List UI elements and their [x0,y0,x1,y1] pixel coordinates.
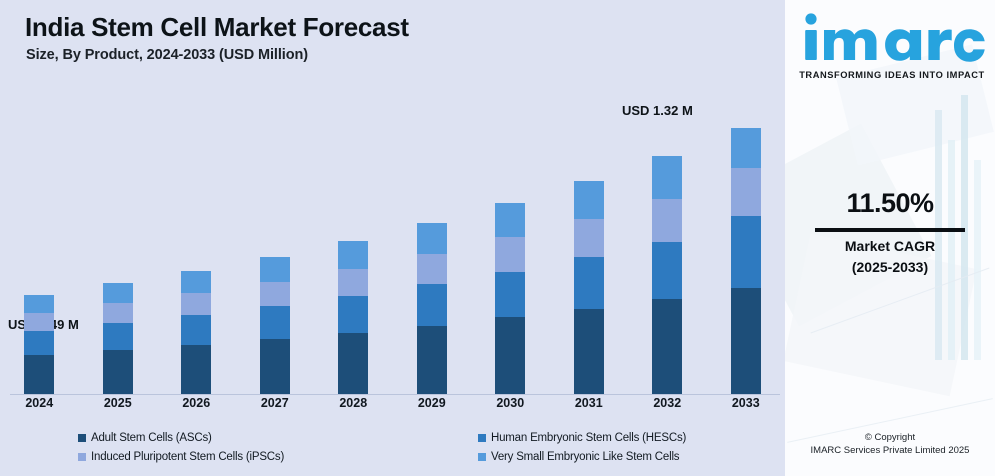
brand-tagline: TRANSFORMING IDEAS INTO IMPACT [799,70,985,80]
bar-segment [103,350,133,394]
x-axis-tick: 2028 [314,396,393,418]
bar-segment [574,219,604,257]
copyright-line-2: IMARC Services Private Limited 2025 [785,445,995,456]
x-axis: 2024202520262027202820292030203120322033 [0,396,785,418]
bar-segment [260,306,290,339]
bar-segment [652,156,682,199]
legend-swatch-icon [478,434,486,442]
x-axis-tick: 2031 [550,396,629,418]
stacked-bar[interactable] [731,128,761,394]
stacked-bar[interactable] [260,257,290,394]
cagr-value: 11.50% [785,188,995,219]
stacked-bar[interactable] [495,203,525,394]
bar-segment [103,323,133,350]
bar-segment [417,284,447,325]
bar-segment [574,309,604,394]
bar-column [0,102,79,394]
bar-segment [731,168,761,216]
brand-panel: TRANSFORMING IDEAS INTO IMPACT 11.50% Ma… [785,0,995,476]
legend-swatch-icon [478,453,486,461]
chart-panel: India Stem Cell Market Forecast Size, By… [0,0,785,476]
bar-segment [181,345,211,394]
bar-segment [652,199,682,242]
legend-label: Human Embryonic Stem Cells (HESCs) [491,432,686,444]
bar-column [236,102,315,394]
bar-segment [417,254,447,285]
stacked-bar[interactable] [24,295,54,394]
legend-swatch-icon [78,453,86,461]
imarc-logo [799,12,989,64]
bar-segment [338,333,368,394]
bar-column [550,102,629,394]
bar-column [707,102,786,394]
bar-segment [24,331,54,355]
x-axis-tick: 2024 [0,396,79,418]
x-axis-tick: 2033 [707,396,786,418]
legend-swatch-icon [78,434,86,442]
bar-segment [731,128,761,168]
bar-segment [24,355,54,394]
bar-segment [181,271,211,293]
cagr-divider [815,228,965,232]
bar-segment [495,237,525,271]
bar-group [0,102,785,394]
bar-column [393,102,472,394]
bar-segment [417,326,447,394]
stacked-bar[interactable] [103,283,133,394]
bar-segment [181,315,211,344]
bar-column [628,102,707,394]
bar-segment [260,339,290,394]
bar-segment [181,293,211,315]
stacked-bar[interactable] [417,223,447,394]
bar-segment [24,295,54,313]
x-axis-tick: 2032 [628,396,707,418]
legend-item[interactable]: Human Embryonic Stem Cells (HESCs) [478,428,785,447]
bar-column [79,102,158,394]
x-axis-tick: 2029 [393,396,472,418]
stacked-bar[interactable] [574,181,604,394]
bar-column [157,102,236,394]
legend-label: Induced Pluripotent Stem Cells (iPSCs) [91,451,284,463]
bar-segment [103,283,133,303]
bar-segment [24,313,54,331]
stacked-bar[interactable] [181,271,211,394]
bar-segment [495,317,525,394]
legend-label: Very Small Embryonic Like Stem Cells [491,451,679,463]
bar-segment [338,296,368,333]
x-axis-tick: 2027 [236,396,315,418]
bar-column [314,102,393,394]
x-axis-tick: 2030 [471,396,550,418]
bar-segment [495,203,525,237]
bar-segment [731,288,761,394]
bar-segment [574,257,604,308]
bar-segment [495,272,525,318]
legend-item[interactable]: Adult Stem Cells (ASCs) [78,428,478,447]
cagr-period: (2025-2033) [785,259,995,275]
bar-segment [417,223,447,254]
infographic-page: India Stem Cell Market Forecast Size, By… [0,0,995,476]
stacked-bar[interactable] [652,156,682,394]
bar-segment [338,241,368,269]
bar-segment [260,257,290,282]
legend-label: Adult Stem Cells (ASCs) [91,432,212,444]
bar-segment [338,269,368,297]
bar-segment [574,181,604,219]
bar-segment [260,282,290,307]
page-subtitle: Size, By Product, 2024-2033 (USD Million… [26,47,308,63]
bar-segment [731,216,761,288]
bar-segment [103,303,133,323]
axis-baseline [10,394,780,395]
page-title: India Stem Cell Market Forecast [25,12,409,43]
bar-segment [652,299,682,394]
legend-item[interactable]: Very Small Embryonic Like Stem Cells [478,447,785,466]
bar-segment [652,242,682,299]
chart-legend: Adult Stem Cells (ASCs)Human Embryonic S… [0,428,785,472]
stacked-bar[interactable] [338,241,368,394]
x-axis-tick: 2025 [79,396,158,418]
legend-item[interactable]: Induced Pluripotent Stem Cells (iPSCs) [78,447,478,466]
plot-area: USD 0.49 M USD 1.32 M [0,95,785,395]
cagr-caption: Market CAGR [785,238,995,254]
bar-column [471,102,550,394]
copyright-line-1: © Copyright [785,432,995,443]
x-axis-tick: 2026 [157,396,236,418]
